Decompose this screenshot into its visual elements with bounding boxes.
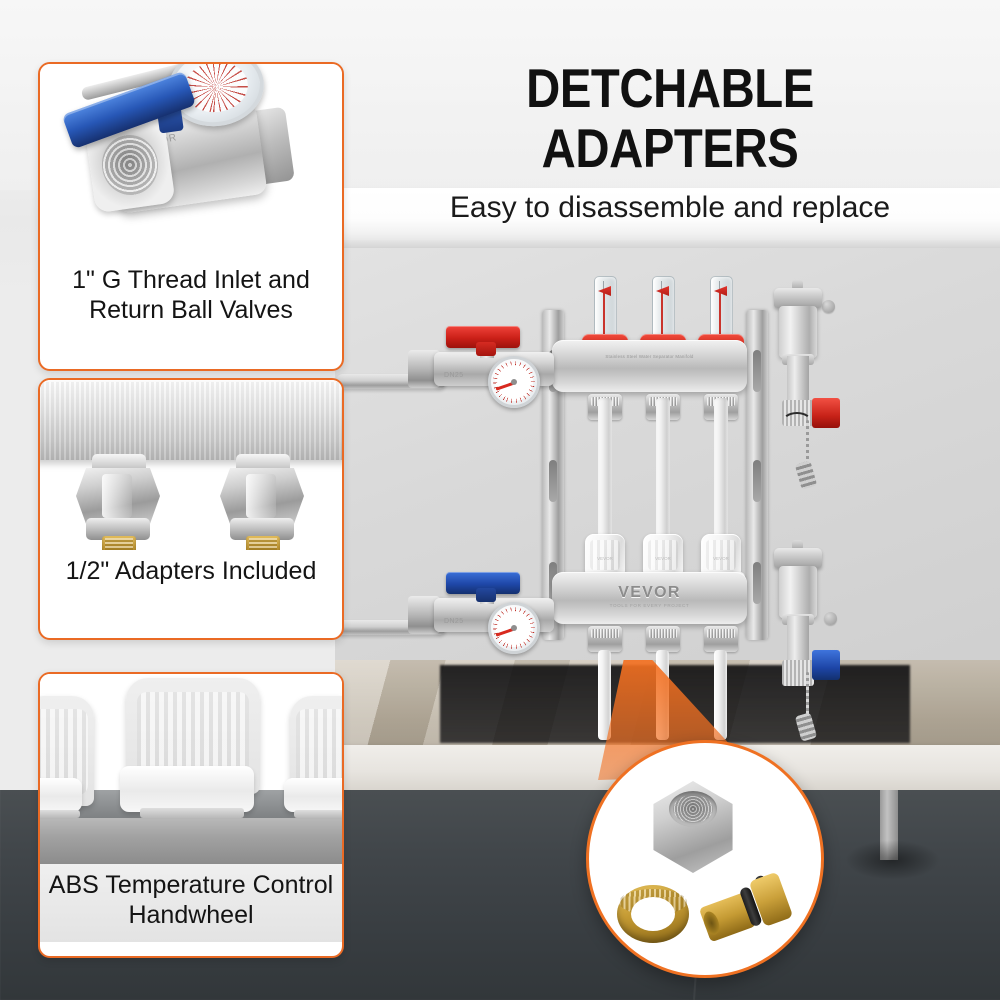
feature-card-ball-valves[interactable]: VEVOR 1" G Thread Inlet and Return Ball … — [38, 62, 344, 371]
return-manifold-bar: VEVOR TOOLS FOR EVERY PROJECT — [552, 572, 747, 624]
headline-block: DETCHABLE ADAPTERS Easy to disassemble a… — [360, 58, 980, 226]
outlet-pipe — [598, 650, 611, 740]
valve-marking: DN25 — [444, 618, 464, 625]
riser-tube — [598, 398, 612, 538]
drain-outlet — [782, 660, 814, 686]
manifold-bar — [40, 382, 342, 460]
handwheel-side — [290, 696, 342, 824]
feature-image-ball-valve: VEVOR — [40, 64, 342, 259]
valve-marking: DN25 — [444, 372, 464, 379]
vent-body — [779, 306, 817, 358]
flow-meter-sight-glass — [594, 276, 617, 340]
outlet-pipe — [714, 650, 727, 740]
temperature-gauge — [488, 356, 540, 408]
mounting-bracket-right — [746, 310, 768, 640]
valve-lever-handle[interactable] — [446, 326, 520, 348]
handwheel-side — [40, 696, 94, 824]
manifold-assembly: Stainless Steel Water Separator Manifold… — [540, 280, 780, 680]
feature-image-adapters — [40, 380, 342, 550]
vent-body — [779, 566, 817, 618]
feature-caption: 1/2" Adapters Included — [40, 550, 342, 598]
vent-neck — [787, 356, 809, 402]
drain-cap-chain — [806, 672, 809, 718]
drain-valve-handle-bottom[interactable] — [812, 650, 840, 680]
table-leg-shadow — [845, 840, 940, 880]
brand-tagline: TOOLS FOR EVERY PROJECT — [552, 603, 747, 608]
page-title: DETCHABLE ADAPTERS — [403, 58, 936, 178]
feature-caption: ABS Temperature Control Handwheel — [40, 864, 342, 942]
outlet-nut — [588, 626, 622, 652]
manifold-engraving: Stainless Steel Water Separator Manifold — [552, 354, 747, 360]
vent-cap — [774, 288, 822, 308]
brass-insert-part — [691, 858, 796, 955]
zoom-callout-bubble — [586, 740, 824, 978]
panel-screw-icon — [822, 300, 835, 313]
drain-valve-handle-top[interactable] — [812, 398, 840, 428]
feature-card-adapters[interactable]: 1/2" Adapters Included — [38, 378, 344, 640]
handwheel-cap[interactable] — [701, 534, 741, 576]
brass-tip — [246, 536, 280, 550]
feature-card-handwheel[interactable]: ABS Temperature Control Handwheel — [38, 672, 344, 958]
temperature-gauge — [488, 602, 540, 654]
outlet-nut — [704, 626, 738, 652]
handwheel-cap[interactable] — [585, 534, 625, 576]
panel-screw-icon — [824, 612, 837, 625]
valve-lever-handle[interactable] — [446, 572, 520, 594]
page-subtitle: Easy to disassemble and replace — [360, 190, 980, 226]
nut-thread-bore — [669, 791, 717, 827]
vent-cap — [774, 548, 822, 568]
riser-tube — [714, 398, 728, 538]
shelf-edge — [335, 240, 1000, 248]
feature-caption: 1" G Thread Inlet and Return Ball Valves — [40, 259, 342, 337]
outlet-nut — [646, 626, 680, 652]
flow-meter-sight-glass — [710, 276, 733, 340]
vent-neck — [787, 616, 809, 662]
handwheel-center — [126, 678, 256, 824]
feature-image-handwheel — [40, 674, 342, 864]
brand-name: VEVOR — [618, 584, 681, 601]
compression-nut-part — [647, 781, 739, 873]
brand-logo: VEVOR TOOLS FOR EVERY PROJECT — [552, 584, 747, 608]
product-infographic: Stainless Steel Water Separator Manifold… — [0, 0, 1000, 1000]
supply-manifold-bar: Stainless Steel Water Separator Manifold — [552, 340, 747, 392]
brass-tip — [102, 536, 136, 550]
flow-meter-sight-glass — [652, 276, 675, 340]
riser-tube — [656, 398, 670, 538]
brass-split-ring-part — [617, 885, 689, 943]
handwheel-cap[interactable] — [643, 534, 683, 576]
